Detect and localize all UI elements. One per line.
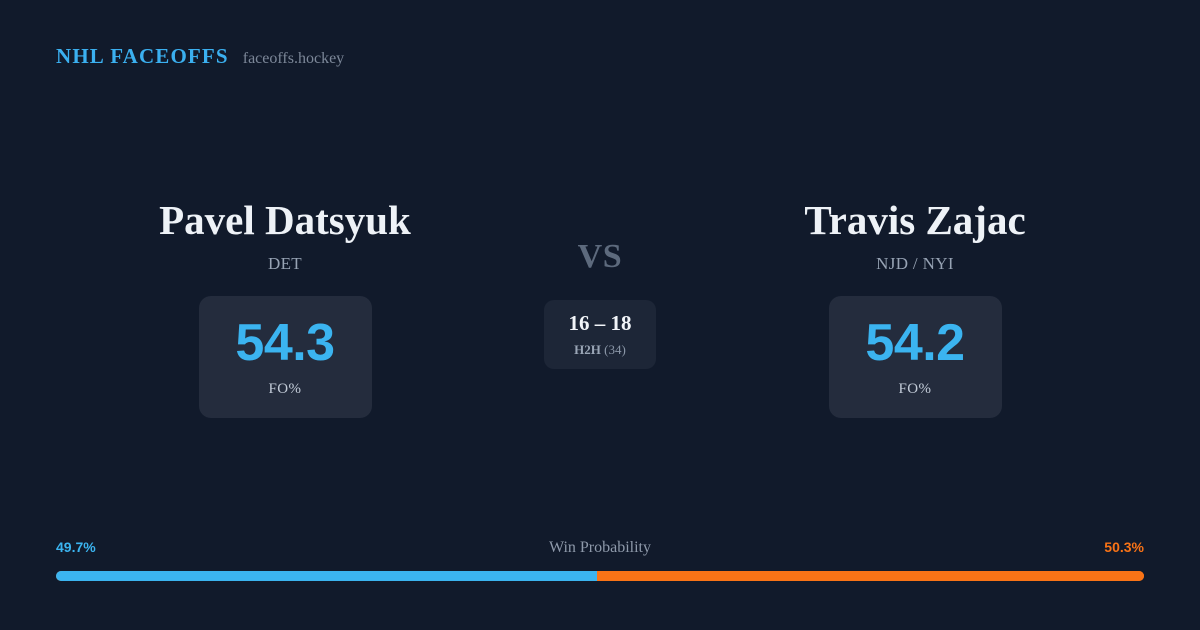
brand-domain: faceoffs.hockey [243,51,344,67]
head-to-head-total: (34) [604,342,626,357]
head-to-head-card: 16 – 18 H2H (34) [544,300,656,369]
player-teams-right: NJD / NYI [876,254,954,274]
versus-label: VS [578,240,623,274]
player-name-right: Travis Zajac [804,196,1025,244]
brand-title: NHL FACEOFFS [56,46,229,67]
player-card-right: Travis Zajac NJD / NYI 54.2 FO% [680,196,1150,418]
matchup-section: Pavel Datsyuk DET 54.3 FO% VS 16 – 18 H2… [0,196,1200,418]
head-to-head-record: 16 – 18 [569,313,632,334]
stat-value-right: 54.2 [865,317,964,369]
stat-label-right: FO% [898,381,931,398]
head-to-head-tag: H2H [574,342,601,357]
win-probability-left-percent: 49.7% [56,540,96,554]
stat-label-left: FO% [268,381,301,398]
win-probability-title: Win Probability [549,540,651,556]
stat-card-left: 54.3 FO% [199,296,372,418]
stat-value-left: 54.3 [235,317,334,369]
win-probability-section: 49.7% Win Probability 50.3% [56,540,1144,581]
win-probability-bar-right-segment [597,571,1144,581]
win-probability-bar-left-segment [56,571,597,581]
versus-column: VS 16 – 18 H2H (34) [520,196,680,369]
player-teams-left: DET [268,254,302,274]
player-name-left: Pavel Datsyuk [159,196,411,244]
win-probability-labels: 49.7% Win Probability 50.3% [56,540,1144,560]
head-to-head-subtitle: H2H (34) [574,343,626,356]
brand-header: NHL FACEOFFS faceoffs.hockey [56,46,344,67]
stat-card-right: 54.2 FO% [829,296,1002,418]
player-card-left: Pavel Datsyuk DET 54.3 FO% [50,196,520,418]
win-probability-right-percent: 50.3% [1104,540,1144,554]
win-probability-bar [56,571,1144,581]
